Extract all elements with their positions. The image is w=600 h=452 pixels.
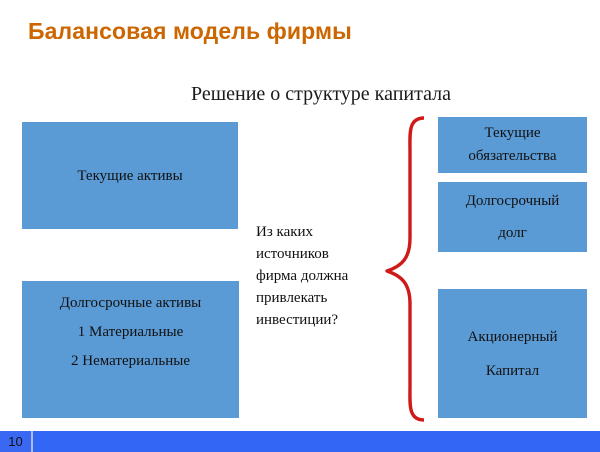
footer-bar bbox=[0, 431, 600, 452]
center-question-line-2: источников bbox=[256, 243, 388, 265]
box-equity-line-2: Капитал bbox=[486, 354, 539, 388]
slide-canvas: Балансовая модель фирмы Решение о структ… bbox=[0, 0, 600, 452]
box-longterm-debt-line-1: Долгосрочный bbox=[466, 185, 560, 217]
box-longterm-assets: Долгосрочные активы 1 Материальные 2 Нем… bbox=[22, 281, 239, 418]
center-question-line-5: инвестиции? bbox=[256, 309, 388, 331]
red-curly-brace-icon bbox=[384, 112, 424, 426]
box-longterm-debt-line-2: долг bbox=[498, 217, 527, 249]
center-question-text: Из каких источников фирма должна привлек… bbox=[256, 221, 388, 331]
box-current-assets: Текущие активы bbox=[22, 122, 238, 229]
page-title: Балансовая модель фирмы bbox=[28, 17, 352, 45]
box-equity-line-1: Акционерный bbox=[468, 320, 558, 354]
box-equity: Акционерный Капитал bbox=[438, 289, 587, 418]
center-question-line-3: фирма должна bbox=[256, 265, 388, 287]
slide-subtitle: Решение о структуре капитала bbox=[0, 82, 600, 106]
center-question-line-1: Из каких bbox=[256, 221, 388, 243]
box-longterm-assets-line-3: 2 Нематериальные bbox=[71, 347, 190, 376]
footer-divider bbox=[31, 431, 33, 452]
slide-number-badge: 10 bbox=[0, 431, 31, 452]
box-longterm-assets-line-1: Долгосрочные активы bbox=[60, 289, 202, 318]
box-current-liabilities-line-2: обязательства bbox=[468, 145, 556, 168]
box-current-liabilities: Текущие обязательства bbox=[438, 117, 587, 173]
box-current-liabilities-line-1: Текущие bbox=[484, 122, 540, 145]
box-longterm-assets-line-2: 1 Материальные bbox=[78, 318, 183, 347]
box-longterm-debt: Долгосрочный долг bbox=[438, 182, 587, 252]
box-current-assets-line-1: Текущие активы bbox=[77, 163, 182, 189]
center-question-line-4: привлекать bbox=[256, 287, 388, 309]
